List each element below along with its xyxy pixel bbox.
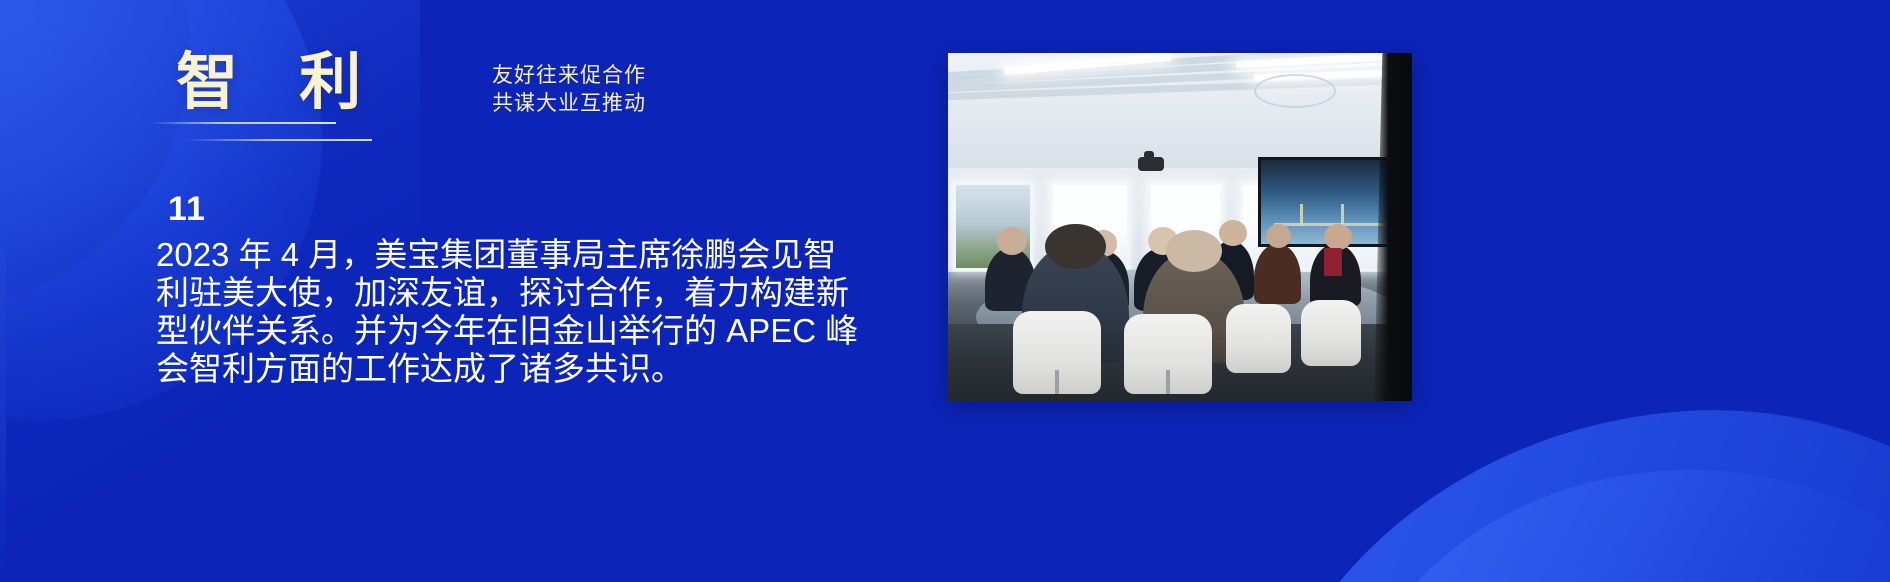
subtitle-line-1: 友好往来促合作 (492, 62, 646, 90)
photo-chair-stem (1166, 370, 1170, 394)
ceiling-vent (1254, 74, 1336, 108)
photo-person-head (1045, 224, 1105, 269)
title-underline-rules (150, 122, 350, 144)
photo-person-head (1266, 224, 1292, 248)
photo-person-head (997, 227, 1027, 255)
title-rule-bottom (186, 139, 372, 141)
meeting-photo (948, 53, 1412, 401)
photo-person-scarf (1324, 248, 1343, 276)
subtitle-block: 友好往来促合作 共谋大业互推动 (492, 62, 646, 118)
left-edge-accent (0, 248, 6, 582)
item-number: 11 (168, 190, 206, 229)
paragraph-line: 会智利方面的工作达成了诸多共识。 (156, 350, 846, 388)
photo-chair-stem (1055, 370, 1059, 394)
photo-person (1254, 244, 1300, 303)
photo-person-head (1324, 224, 1352, 250)
photo-chair (1226, 304, 1291, 374)
photo-scene (948, 53, 1412, 401)
title-rule-top (150, 122, 336, 124)
page-title: 智 利 (176, 52, 536, 114)
photo-ceiling (948, 53, 1412, 171)
photo-chair (1301, 300, 1361, 366)
wall-camera-icon (1138, 157, 1164, 171)
body-paragraph: 2023 年 4 月，美宝集团董事局主席徐鹏会见智 利驻美大使，加深友谊，探讨合… (156, 236, 846, 388)
slide-canvas: 智 利 友好往来促合作 共谋大业互推动 11 2023 年 4 月，美宝集团董事… (0, 0, 1890, 582)
subtitle-line-2: 共谋大业互推动 (492, 90, 646, 118)
title-block: 智 利 (176, 52, 536, 114)
photo-person-head (1166, 230, 1222, 272)
paragraph-line: 型伙伴关系。并为今年在旧金山举行的 APEC 峰 (156, 312, 846, 350)
paragraph-line: 利驻美大使，加深友谊，探讨合作，着力构建新 (156, 274, 846, 312)
paragraph-line: 2023 年 4 月，美宝集团董事局主席徐鹏会见智 (156, 236, 846, 274)
